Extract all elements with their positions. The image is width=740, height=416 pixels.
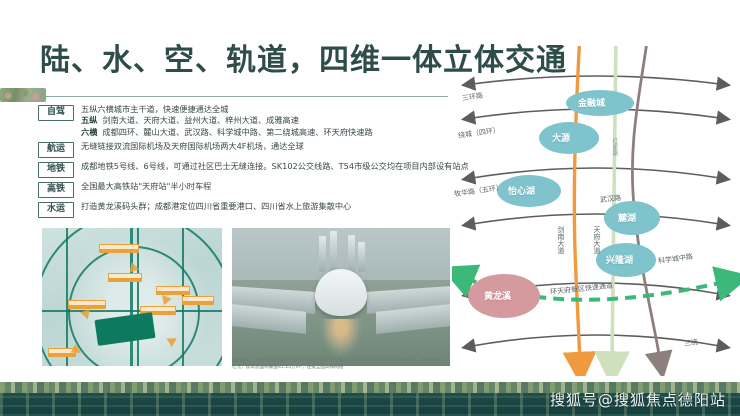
map-chip-label — [99, 244, 139, 253]
map-district-label: 怡心湖 — [508, 184, 535, 197]
tower — [319, 236, 326, 272]
info-line: 成都地铁5号线、6号线，可通过社区巴士无缝连接。SK102公交线路、T54市级公… — [81, 161, 469, 172]
info-row-drive: 自驾 五纵六横城市主干道，快速便捷通达全城 五纵剑南大道、天府大道、益州大道、梓… — [38, 104, 450, 138]
photo-transport-schematic — [42, 228, 222, 366]
radial-road — [42, 310, 222, 312]
info-line: 六横成都四环、麓山大道、武汉路、科学城中路、第二绕城高速、环天府快速路 — [81, 127, 450, 138]
tag-aviation: 航运 — [38, 142, 74, 158]
title-divider — [38, 96, 448, 97]
info-line-lead: 六横 — [81, 127, 97, 137]
info-row-body: 五纵六横城市主干道，快速便捷通达全城 五纵剑南大道、天府大道、益州大道、梓州大道… — [81, 104, 450, 138]
transport-info-list: 自驾 五纵六横城市主干道，快速便捷通达全城 五纵剑南大道、天府大道、益州大道、梓… — [38, 104, 450, 221]
map-label-jiannan-avenue: 剑南大道 — [556, 226, 566, 254]
map-district-label: 黄龙溪 — [484, 289, 511, 302]
map-label-hongxing-road: 红星路 — [610, 138, 619, 156]
radial-road — [66, 228, 68, 366]
info-row-water-transport: 水运 打造黄龙溪码头群；成都港定位四川省重要港口、四川省水上旅游集散中心 — [38, 201, 450, 218]
map-district-label: 兴隆湖 — [606, 253, 633, 266]
info-line: 无缝链接双流国际机场及天府国际机场两大4F机场，通达全球 — [81, 141, 450, 152]
photo-caption: 由Aedas、中国建筑西南设计研究院有限公司以及中铁二局工程集团有限责任公司联合… — [232, 358, 448, 371]
tag-highspeed-rail: 高铁 — [38, 182, 74, 198]
map-chip-label — [108, 273, 142, 282]
tag-drive: 自驾 — [38, 105, 74, 121]
region-transport-map: 三环路 绕城（四环） 牧华路（五环） 武汉路 科学城中路 三绕 剑南大道 天府大… — [452, 46, 740, 376]
info-line-text: 成都地铁5号线、6号线，可通过社区巴士无缝连接。SK102公交线路、T54市级公… — [81, 161, 469, 171]
info-line: 全国最大高铁站"天府站"半小时车程 — [81, 181, 450, 192]
ring-road-path — [472, 214, 720, 224]
map-label-ring-third-outer: 三绕 — [683, 337, 698, 349]
station-roof — [315, 269, 367, 316]
info-line: 五纵六横城市主干道，快速便捷通达全城 — [81, 104, 450, 115]
watermark-label: 搜狐号@搜狐焦点德阳站 — [550, 389, 726, 410]
info-row-highspeed-rail: 高铁 全国最大高铁站"天府站"半小时车程 — [38, 181, 450, 198]
info-line-lead: 五纵 — [81, 115, 97, 125]
decorative-ornament — [0, 88, 46, 102]
info-line-text: 打造黄龙溪码头群；成都港定位四川省重要港口、四川省水上旅游集散中心 — [81, 201, 351, 211]
info-row-body: 全国最大高铁站"天府站"半小时车程 — [81, 181, 450, 192]
info-row-metro: 地铁 成都地铁5号线、6号线，可通过社区巴士无缝连接。SK102公交线路、T54… — [38, 161, 450, 178]
ring-road-path — [472, 76, 720, 84]
photo-station-render — [232, 228, 450, 366]
station-plaza — [319, 319, 363, 358]
info-line-text: 五纵六横城市主干道，快速便捷通达全城 — [81, 104, 228, 114]
map-district-label: 大源 — [552, 131, 570, 144]
map-label-tianfu-avenue: 天府大道 — [592, 226, 602, 254]
map-chip-label — [156, 286, 190, 295]
info-line-text: 成都四环、麓山大道、武汉路、科学城中路、第二绕城高速、环天府快速路 — [102, 127, 372, 137]
info-line: 打造黄龙溪码头群；成都港定位四川省重要港口、四川省水上旅游集散中心 — [81, 201, 450, 212]
map-chip-label — [182, 296, 214, 305]
info-row-aviation: 航运 无缝链接双流国际机场及天府国际机场两大4F机场，通达全球 — [38, 141, 450, 158]
info-line-text: 全国最大高铁站"天府站"半小时车程 — [81, 181, 211, 191]
tag-water-transport: 水运 — [38, 202, 74, 218]
map-district-label: 金融城 — [578, 96, 605, 109]
info-row-body: 成都地铁5号线、6号线，可通过社区巴士无缝连接。SK102公交线路、T54市级公… — [81, 161, 469, 172]
info-line-text: 无缝链接双流国际机场及天府国际机场两大4F机场，通达全球 — [81, 141, 304, 151]
info-row-body: 打造黄龙溪码头群；成都港定位四川省重要港口、四川省水上旅游集散中心 — [81, 201, 450, 212]
tower — [348, 235, 355, 272]
info-line-text: 剑南大道、天府大道、益州大道、梓州大道、成雅高速 — [102, 115, 299, 125]
slide-root: 陆、水、空、轨道，四维一体立体交通 自驾 五纵六横城市主干道，快速便捷通达全城 … — [0, 0, 740, 416]
tower — [358, 242, 365, 272]
info-line: 五纵剑南大道、天府大道、益州大道、梓州大道、成雅高速 — [81, 115, 450, 126]
map-district-label: 麓湖 — [618, 211, 636, 224]
tag-metro: 地铁 — [38, 162, 74, 178]
info-row-body: 无缝链接双流国际机场及天府国际机场两大4F机场，通达全球 — [81, 141, 450, 152]
ring-road-path — [472, 168, 720, 178]
tower — [330, 231, 337, 272]
